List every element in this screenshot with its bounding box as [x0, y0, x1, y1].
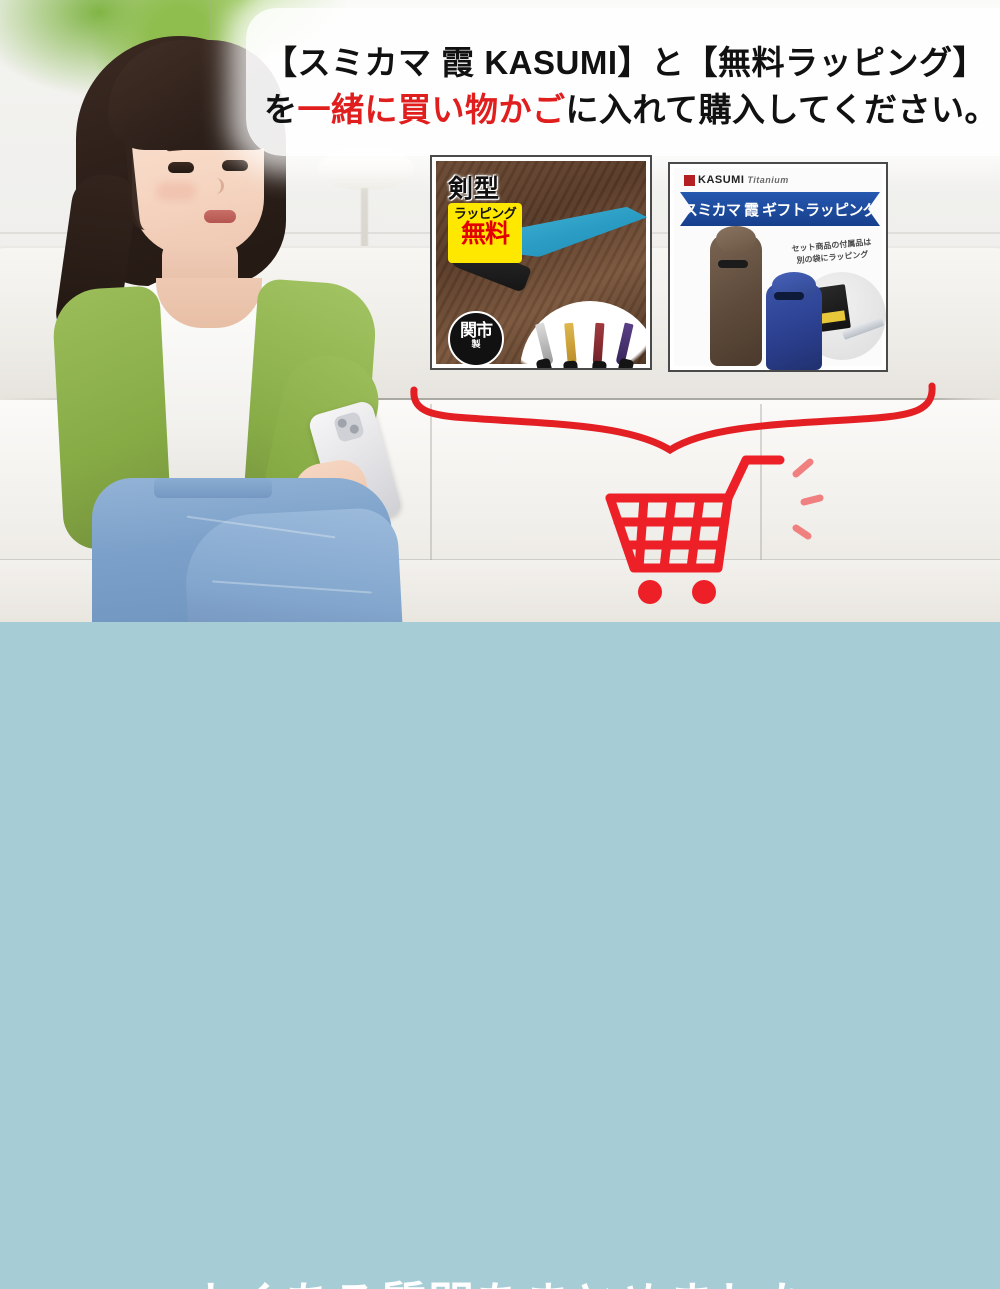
blue-bag-ribbon — [774, 292, 804, 300]
knife-type-badge: 剣型 — [448, 169, 500, 205]
product-card-knife[interactable]: 剣型 ラッピング 無料 関市 製 — [430, 155, 652, 370]
free-label: 無料 — [448, 221, 522, 247]
headline-line1: 【スミカマ 霞 KASUMI】と【無料ラッピング】 — [264, 44, 986, 81]
hero-photo: 【スミカマ 霞 KASUMI】と【無料ラッピング】 を一緒に買い物かごに入れて購… — [0, 0, 1000, 622]
knife-variant-handle — [563, 360, 579, 370]
knife-variant-gold — [564, 323, 577, 366]
seki-origin-line2: 製 — [450, 340, 502, 349]
free-wrapping-badge: ラッピング 無料 — [448, 203, 522, 263]
headline-line2-prefix: を — [264, 91, 298, 128]
cart-wheel — [692, 580, 716, 604]
faq-title: よくある質問をまとめました — [0, 1268, 1000, 1289]
logo-square-icon — [684, 175, 695, 186]
mouth — [204, 210, 236, 223]
faq-section: よくある質問をまとめました Q. 袋やリボンの色・デザインは選べますか？ ラッピ… — [0, 622, 1000, 1289]
ribbon-label: スミカマ 霞 ギフトラッピング — [683, 199, 877, 220]
knife-variant-handle — [591, 361, 607, 370]
seki-origin-line1: 関市 — [450, 313, 502, 340]
brown-bag-top — [716, 226, 756, 252]
cart-wheel — [638, 580, 662, 604]
headline-line2-suffix: に入れて購入してください。 — [566, 91, 999, 128]
promo-page: 【スミカマ 霞 KASUMI】と【無料ラッピング】 を一緒に買い物かごに入れて購… — [0, 0, 1000, 1289]
brand-sub: Titanium — [747, 175, 788, 185]
ribbon-banner: スミカマ 霞 ギフトラッピング — [680, 192, 880, 226]
seki-origin-badge: 関市 製 — [448, 311, 504, 367]
brown-bag-ribbon — [718, 260, 748, 268]
shopping-cart-icon — [596, 444, 826, 616]
wrapping-photo: KASUMI Titanium スミカマ 霞 ギフトラッピング — [674, 168, 882, 366]
knife-photo: 剣型 ラッピング 無料 関市 製 — [436, 161, 646, 364]
headline-line2-highlight: 一緒に買い物かご — [298, 91, 566, 128]
headline: 【スミカマ 霞 KASUMI】と【無料ラッピング】 を一緒に買い物かごに入れて購… — [264, 40, 994, 134]
cheek-blush — [156, 182, 196, 200]
kasumi-logo: KASUMI Titanium — [684, 174, 789, 186]
product-card-wrapping[interactable]: KASUMI Titanium スミカマ 霞 ギフトラッピング — [668, 162, 888, 372]
wrapping-note: セット商品の付属品は 別の袋にラッピング — [783, 236, 881, 268]
eye — [222, 160, 248, 171]
brand-name: KASUMI — [698, 174, 744, 186]
eye — [168, 162, 194, 173]
jeans-waistband — [154, 478, 272, 498]
knife-variant-red — [593, 323, 605, 366]
brown-gift-bag — [710, 234, 762, 366]
